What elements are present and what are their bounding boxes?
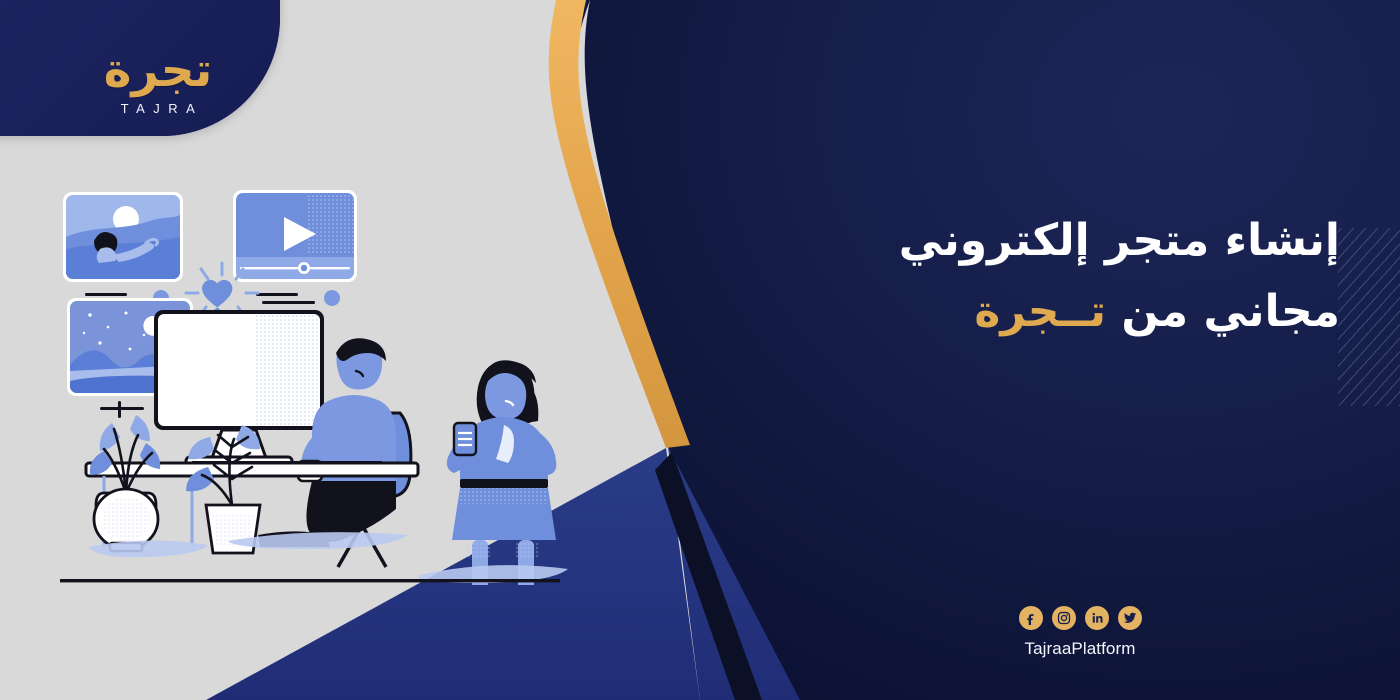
standing-woman — [447, 360, 556, 585]
logo-content: تجرة TAJRA — [78, 47, 238, 116]
social-icon-row — [1017, 606, 1143, 630]
headline-line-2-plain: مجاني من — [1106, 286, 1340, 337]
headline-line-2: مجاني من تــجرة — [580, 276, 1340, 347]
facebook-icon[interactable] — [1019, 606, 1043, 630]
promo-banner: تجرة TAJRA إنشاء متجر إلكتروني مجاني من … — [0, 0, 1400, 700]
linkedin-icon[interactable] — [1085, 606, 1109, 630]
social-block: TajraaPlatform — [1017, 606, 1143, 659]
twitter-icon[interactable] — [1118, 606, 1142, 630]
video-player-card — [233, 190, 357, 282]
tajra-logo-badge[interactable]: تجرة TAJRA — [0, 0, 280, 136]
headline-brand-word: تــجرة — [974, 286, 1106, 337]
round-vase-plant — [90, 415, 160, 551]
logo-arabic-wordmark: تجرة — [78, 47, 238, 94]
beach-photo-card — [63, 192, 183, 282]
headline-block: إنشاء متجر إلكتروني مجاني من تــجرة — [580, 205, 1340, 348]
social-handle-text: TajraaPlatform — [1017, 639, 1143, 659]
ecommerce-workspace-illustration — [60, 175, 580, 585]
instagram-icon[interactable] — [1052, 606, 1076, 630]
headline-line-1: إنشاء متجر إلكتروني — [580, 205, 1340, 276]
logo-latin-wordmark: TAJRA — [78, 101, 238, 116]
